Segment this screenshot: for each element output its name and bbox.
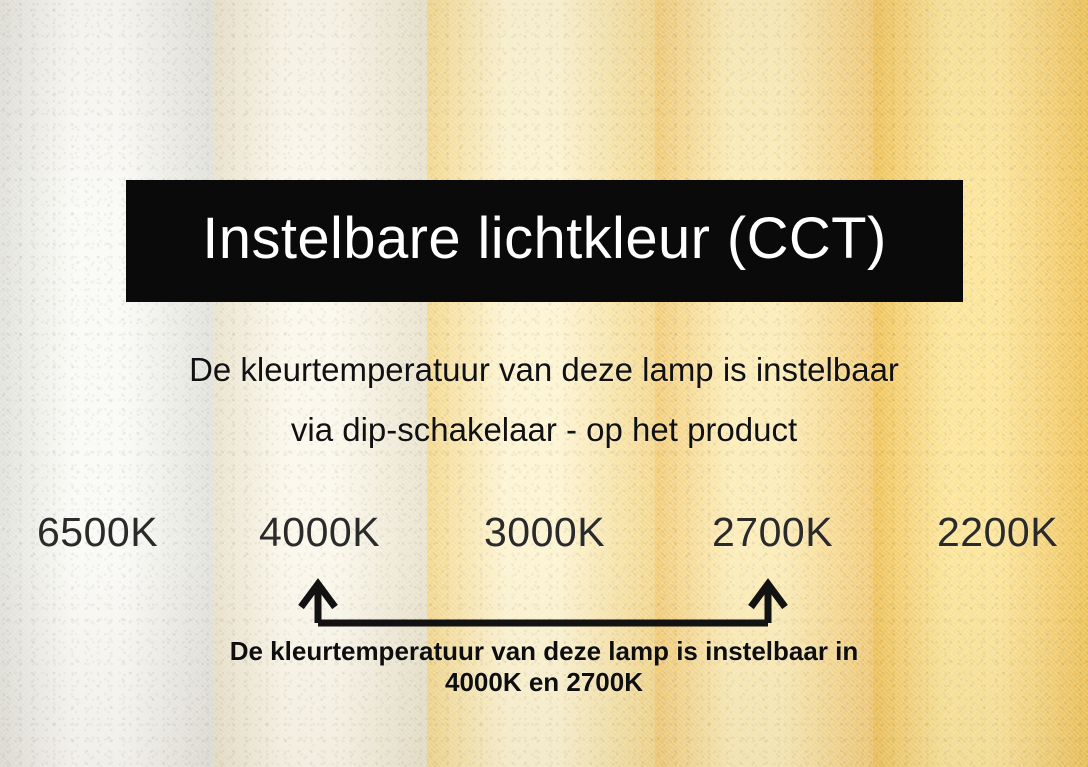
subtitle-line-2: via dip-schakelaar - op het product <box>0 400 1088 460</box>
subtitle-line-1: De kleurtemperatuur van deze lamp is ins… <box>0 340 1088 400</box>
kelvin-label-2700k: 2700K <box>712 506 833 558</box>
caption-line-2: 4000K en 2700K <box>0 667 1088 698</box>
kelvin-label-3000k: 3000K <box>484 506 605 558</box>
kelvin-label-6500k: 6500K <box>37 506 158 558</box>
kelvin-label-row: 6500K4000K3000K2700K2200K <box>0 506 1088 558</box>
caption-block: De kleurtemperatuur van deze lamp is ins… <box>0 636 1088 697</box>
cct-infographic: Instelbare lichtkleur (CCT) De kleurtemp… <box>0 0 1088 767</box>
title-banner: Instelbare lichtkleur (CCT) <box>126 180 963 302</box>
caption-line-1: De kleurtemperatuur van deze lamp is ins… <box>0 636 1088 667</box>
subtitle-block: De kleurtemperatuur van deze lamp is ins… <box>0 340 1088 460</box>
page-title: Instelbare lichtkleur (CCT) <box>202 210 886 272</box>
kelvin-label-4000k: 4000K <box>259 506 380 558</box>
kelvin-label-2200k: 2200K <box>937 506 1058 558</box>
